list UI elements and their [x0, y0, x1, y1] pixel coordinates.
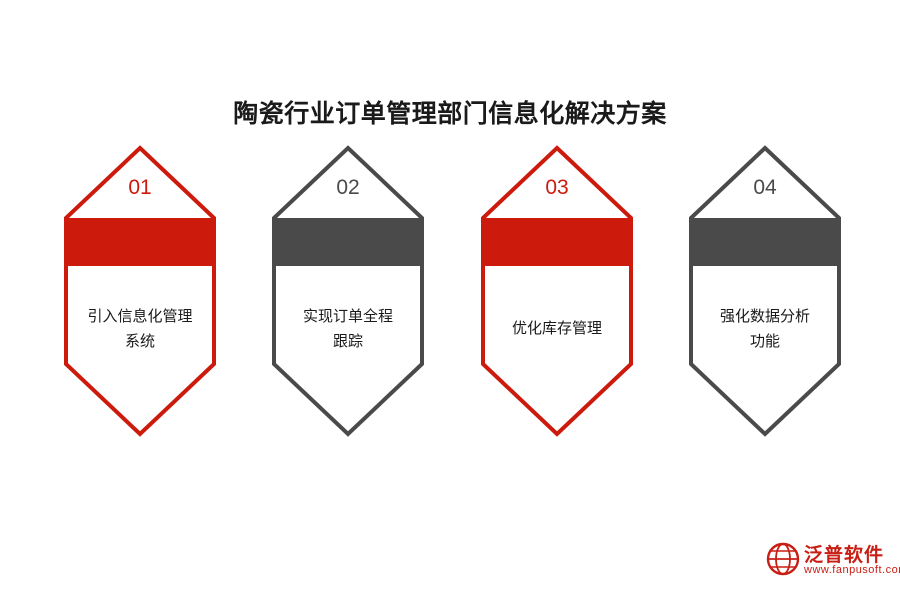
- step-number-4: 04: [689, 176, 841, 200]
- step-label-2-line2: 跟踪: [272, 329, 424, 354]
- step-label-3: 优化库存管理: [481, 316, 633, 341]
- step-label-2-line1: 实现订单全程: [272, 304, 424, 329]
- brand-logo: 泛普软件 www.fanpusoft.com: [766, 540, 886, 586]
- page-title: 陶瓷行业订单管理部门信息化解决方案: [0, 94, 900, 130]
- step-number-3: 03: [481, 176, 633, 200]
- step-label-4-line1: 强化数据分析: [689, 304, 841, 329]
- step-label-1-line1: 引入信息化管理: [64, 304, 216, 329]
- step-label-4: 强化数据分析 功能: [689, 304, 841, 354]
- step-label-4-line2: 功能: [689, 329, 841, 354]
- step-label-1: 引入信息化管理 系统: [64, 304, 216, 354]
- step-number-1: 01: [64, 176, 216, 200]
- diagram-canvas: 陶瓷行业订单管理部门信息化解决方案 01 引入信息化管理 系统 02 实现订单全…: [0, 0, 900, 600]
- step-label-1-line2: 系统: [64, 329, 216, 354]
- brand-name: 泛普软件: [804, 540, 884, 567]
- globe-icon: [766, 542, 800, 576]
- step-number-2: 02: [272, 176, 424, 200]
- brand-url: www.fanpusoft.com: [804, 564, 900, 576]
- step-label-3-line1: 优化库存管理: [481, 316, 633, 341]
- step-label-2: 实现订单全程 跟踪: [272, 304, 424, 354]
